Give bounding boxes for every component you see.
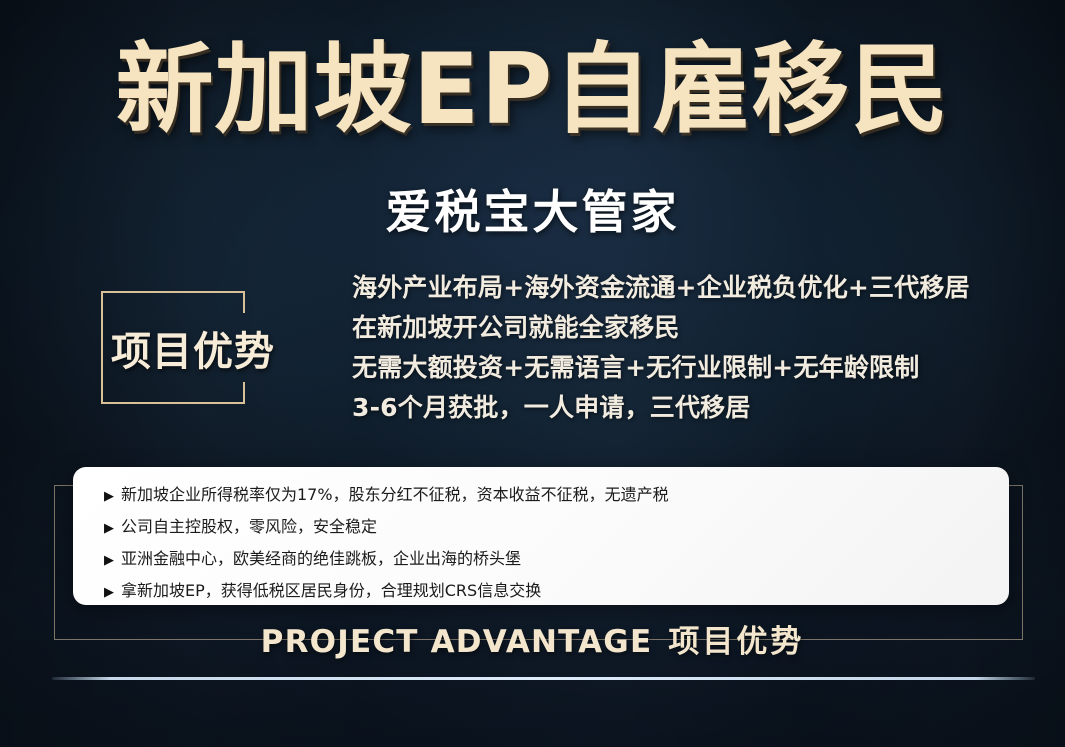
triangle-bullet-icon: ▶	[104, 516, 114, 542]
sub-title: 爱税宝大管家	[0, 176, 1065, 242]
badge-frame-right-bottom-stub	[243, 382, 245, 404]
bottom-caption: PROJECT ADVANTAGE项目优势	[0, 616, 1065, 661]
benefit-text-4: 拿新加坡EP，获得低税区居民身份，合理规划CRS信息交换	[121, 578, 541, 604]
benefit-row-1: ▶ 新加坡企业所得税率仅为17%，股东分红不征税，资本收益不征税，无遗产税	[104, 482, 1009, 510]
benefit-text-3: 亚洲金融中心，欧美经商的绝佳跳板，企业出海的桥头堡	[121, 546, 521, 572]
triangle-bullet-icon: ▶	[104, 484, 114, 510]
benefits-card: ▶ 新加坡企业所得税率仅为17%，股东分红不征税，资本收益不征税，无遗产税 ▶ …	[73, 467, 1009, 605]
benefit-text-2: 公司自主控股权，零风险，安全稳定	[121, 514, 377, 540]
feature-line-4: 3-6个月获批，一人申请，三代移居	[352, 388, 1022, 428]
triangle-bullet-icon: ▶	[104, 548, 114, 574]
badge-frame-bottom-edge	[101, 402, 245, 404]
badge-label: 项目优势	[98, 319, 288, 377]
benefit-row-2: ▶ 公司自主控股权，零风险，安全稳定	[104, 514, 1009, 542]
benefit-row-4: ▶ 拿新加坡EP，获得低税区居民身份，合理规划CRS信息交换	[104, 578, 1009, 606]
feature-line-3: 无需大额投资+无需语言+无行业限制+无年龄限制	[352, 348, 1022, 388]
main-title: 新加坡EP自雇移民	[0, 38, 1065, 144]
badge-frame-top-edge	[101, 291, 245, 293]
bottom-divider-rule	[52, 677, 1035, 680]
feature-line-1: 海外产业布局+海外资金流通+企业税负优化+三代移居	[352, 268, 1022, 308]
benefit-text-1: 新加坡企业所得税率仅为17%，股东分红不征税，资本收益不征税，无遗产税	[121, 482, 669, 508]
poster-root: 新加坡EP自雇移民 爱税宝大管家 项目优势 海外产业布局+海外资金流通+企业税负…	[0, 0, 1065, 747]
triangle-bullet-icon: ▶	[104, 580, 114, 606]
badge-frame-right-top-stub	[243, 291, 245, 313]
project-advantage-badge: 项目优势	[101, 291, 245, 404]
feature-list: 海外产业布局+海外资金流通+企业税负优化+三代移居 在新加坡开公司就能全家移民 …	[352, 268, 1022, 428]
feature-line-2: 在新加坡开公司就能全家移民	[352, 308, 1022, 348]
caption-chinese: 项目优势	[668, 624, 804, 660]
caption-english: PROJECT ADVANTAGE	[261, 624, 653, 660]
benefit-row-3: ▶ 亚洲金融中心，欧美经商的绝佳跳板，企业出海的桥头堡	[104, 546, 1009, 574]
